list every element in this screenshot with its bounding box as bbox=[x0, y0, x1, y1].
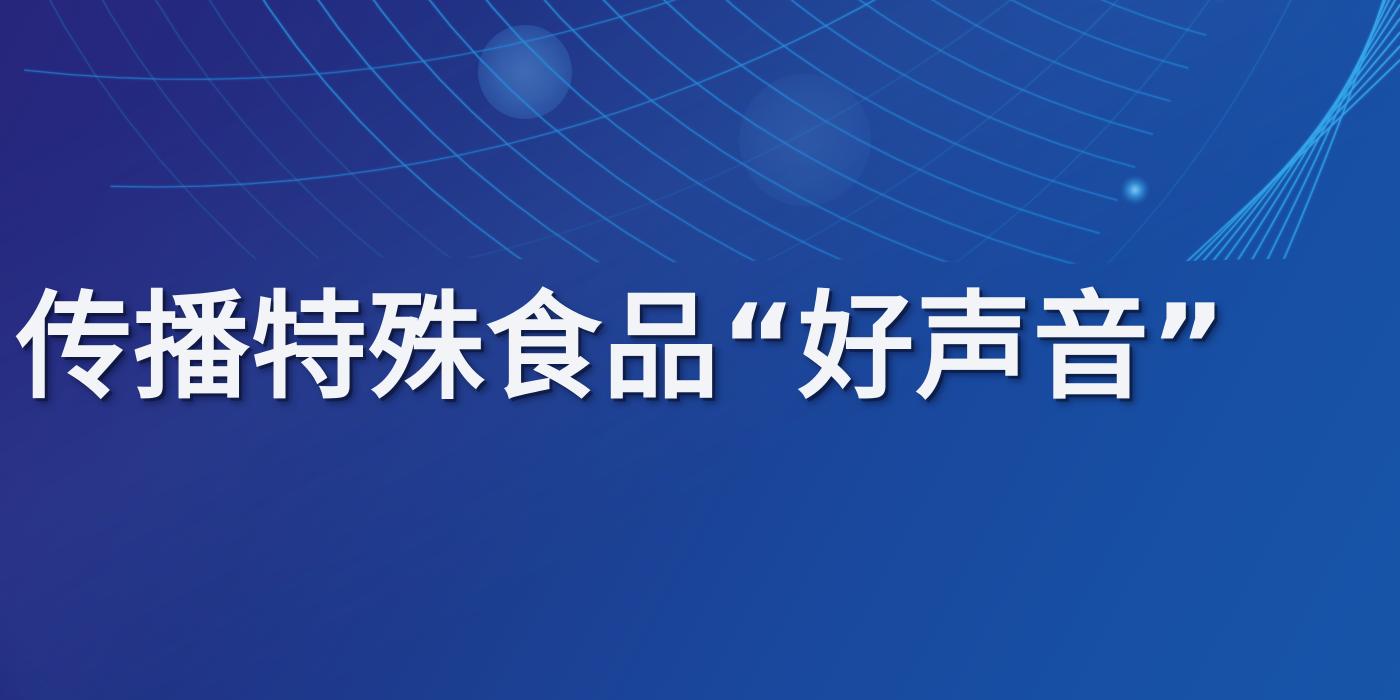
glow-dot-icon bbox=[1121, 176, 1149, 204]
banner-root: 传播特殊食品“好声音” bbox=[0, 0, 1400, 700]
decor-circle-bright bbox=[478, 25, 572, 119]
title-container: 传播特殊食品“好声音” bbox=[0, 268, 1400, 428]
banner-title: 传播特殊食品“好声音” bbox=[0, 287, 1228, 410]
decor-circle-dim bbox=[739, 74, 871, 206]
